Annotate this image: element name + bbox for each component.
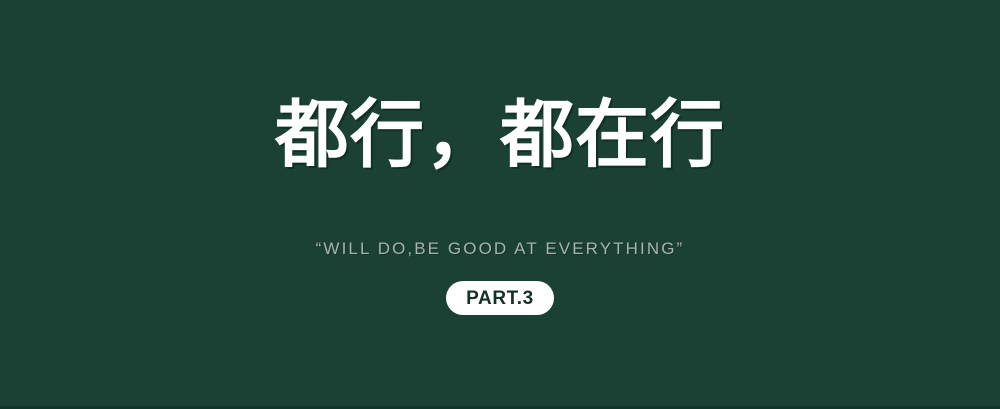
section-banner: 都行，都在行 “WILL DO,BE GOOD AT EVERYTHING” P… xyxy=(0,0,1000,409)
part-badge: PART.3 xyxy=(446,281,554,315)
banner-subtitle: “WILL DO,BE GOOD AT EVERYTHING” xyxy=(316,239,685,259)
part-badge-label: PART.3 xyxy=(466,289,534,308)
banner-headline: 都行，都在行 xyxy=(275,98,725,173)
banner-content: 都行，都在行 “WILL DO,BE GOOD AT EVERYTHING” P… xyxy=(0,0,1000,409)
